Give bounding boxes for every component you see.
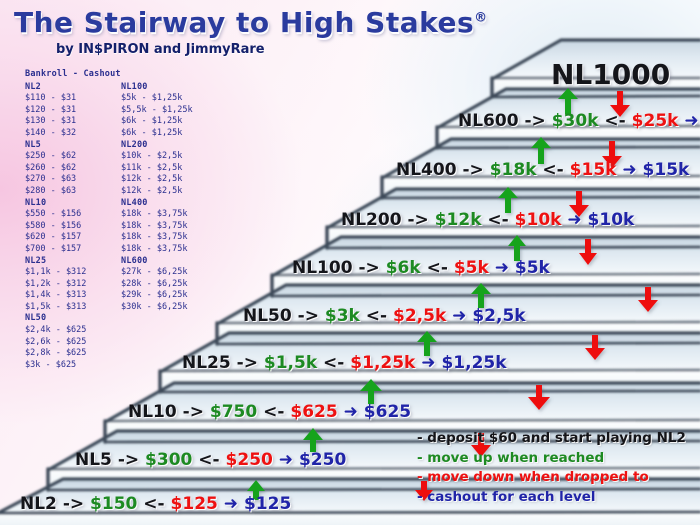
cashout-arrow-icon: ➜ [452, 306, 466, 326]
step-level: NL600 [458, 111, 519, 131]
step-level: NL25 [182, 353, 231, 373]
step-move-down: $5k [454, 258, 489, 278]
step-cashout: $10k [588, 210, 635, 230]
group-name: NL10 [25, 198, 121, 210]
step-level: NL50 [243, 306, 292, 326]
bankroll-row: $260 - $62 [25, 163, 121, 175]
step-row-nl100: NL100 -> $6k <- $5k ➜ $5k [292, 258, 550, 278]
bankroll-group: NL200 $10k - $2,5k $11k - $2,5k $12k - $… [121, 140, 217, 198]
step-row-nl2: NL2 -> $150 <- $125 ➜ $125 [20, 494, 291, 514]
step-row-nl50: NL50 -> $3k <- $2,5k ➜ $2,5k [243, 306, 526, 326]
cashout-arrow-icon: ➜ [567, 210, 581, 230]
step-level: NL200 [341, 210, 402, 230]
bankroll-row: $12k - $2,5k [121, 186, 217, 198]
bankroll-row: $12k - $2,5k [121, 174, 217, 186]
step-move-up: $30k [552, 111, 599, 131]
cashout-arrow-icon: ➜ [224, 494, 238, 514]
step-cashout: $5k [515, 258, 550, 278]
registered-mark: ® [474, 11, 488, 26]
bankroll-row: $1,5k - $313 [25, 302, 121, 314]
bankroll-cashout-table: Bankroll - Cashout NL2 $110 - $31 $120 -… [25, 69, 217, 371]
step-row-nl400: NL400 -> $18k <- $15k ➜ $15k [396, 160, 689, 180]
step-move-down: $25k [632, 111, 679, 131]
legend-item-move-up: - move up when reached [417, 449, 686, 469]
step-row-nl600: NL600 -> $30k <- $25k ➜ $25k [458, 111, 700, 131]
step-arrow-right: -> [298, 306, 319, 326]
bankroll-row: $18k - $3,75k [121, 232, 217, 244]
legend-item-move-down: - move down when dropped to [417, 468, 686, 488]
bankroll-row: $18k - $3,75k [121, 244, 217, 256]
step-arrow-right: -> [237, 353, 258, 373]
step-move-down: $15k [570, 160, 617, 180]
step-cashout: $125 [244, 494, 291, 514]
group-name: NL200 [121, 140, 217, 152]
bankroll-group: NL600 $27k - $6,25k $28k - $6,25k $29k -… [121, 256, 217, 314]
step-arrow-left: <- [143, 494, 164, 514]
bankroll-group: NL100 $5k - $1,25k $5,5k - $1,25k $6k - … [121, 82, 217, 140]
bankroll-row: $3k - $625 [25, 360, 121, 372]
step-level: NL10 [128, 402, 177, 422]
page-title-text: The Stairway to High Stakes [14, 6, 474, 39]
poster-root: The Stairway to High Stakes® by IN$PIRON… [0, 0, 700, 525]
bankroll-row: $29k - $6,25k [121, 290, 217, 302]
step-move-down: $125 [171, 494, 218, 514]
step-move-up: $750 [210, 402, 257, 422]
bankroll-row: $2,4k - $625 [25, 325, 121, 337]
legend-item-deposit: - deposit $60 and start playing NL2 [417, 429, 686, 449]
step-move-down: $1,25k [350, 353, 415, 373]
bankroll-row: $30k - $6,25k [121, 302, 217, 314]
step-row-nl200: NL200 -> $12k <- $10k ➜ $10k [341, 210, 634, 230]
step-arrow-left: <- [427, 258, 448, 278]
step-cashout: $2,5k [472, 306, 525, 326]
step-move-up: $300 [145, 450, 192, 470]
top-step-label: NL1000 [551, 58, 670, 91]
bankroll-group: NL10 $550 - $156 $580 - $156 $620 - $157… [25, 198, 121, 256]
bankroll-row: $2,6k - $625 [25, 337, 121, 349]
legend: - deposit $60 and start playing NL2 - mo… [417, 429, 686, 507]
step-move-up: $3k [325, 306, 360, 326]
step-move-up: $150 [90, 494, 137, 514]
step-arrow-left: <- [487, 210, 508, 230]
group-name: NL600 [121, 256, 217, 268]
title-block: The Stairway to High Stakes® by IN$PIRON… [14, 6, 488, 57]
bankroll-row: $5k - $1,25k [121, 93, 217, 105]
step-arrow-right: -> [118, 450, 139, 470]
step-level: NL2 [20, 494, 57, 514]
step-move-up: $1,5k [264, 353, 317, 373]
step-level: NL400 [396, 160, 457, 180]
bankroll-row: $550 - $156 [25, 209, 121, 221]
bankroll-row: $28k - $6,25k [121, 279, 217, 291]
step-arrow-right: -> [407, 210, 428, 230]
bankroll-row: $700 - $157 [25, 244, 121, 256]
step-arrow-right: -> [63, 494, 84, 514]
bankroll-row: $5,5k - $1,25k [121, 105, 217, 117]
bankroll-row: $270 - $63 [25, 174, 121, 186]
bankroll-group: NL400 $18k - $3,75k $18k - $3,75k $18k -… [121, 198, 217, 256]
table-header: Bankroll - Cashout [25, 69, 217, 81]
bankroll-row: $110 - $31 [25, 93, 121, 105]
step-arrow-right: -> [183, 402, 204, 422]
step-move-up: $18k [490, 160, 537, 180]
bankroll-row: $130 - $31 [25, 116, 121, 128]
cashout-arrow-icon: ➜ [279, 450, 293, 470]
group-name: NL25 [25, 256, 121, 268]
bankroll-group: NL5 $250 - $62 $260 - $62 $270 - $63 $28… [25, 140, 121, 198]
step-arrow-left: <- [323, 353, 344, 373]
bankroll-row: $250 - $62 [25, 151, 121, 163]
step-arrow-left: <- [198, 450, 219, 470]
cashout-arrow-icon: ➜ [495, 258, 509, 278]
bankroll-group: NL2 $110 - $31 $120 - $31 $130 - $31 $14… [25, 82, 121, 140]
bankroll-row: $2,8k - $625 [25, 348, 121, 360]
step-arrow-left: <- [604, 111, 625, 131]
bankroll-row: $18k - $3,75k [121, 221, 217, 233]
legend-item-cashout: - cashout for each level [417, 488, 686, 508]
step-cashout: $1,25k [441, 353, 506, 373]
cashout-arrow-icon: ➜ [622, 160, 636, 180]
bankroll-row: $6k - $1,25k [121, 116, 217, 128]
step-level: NL100 [292, 258, 353, 278]
bankroll-row: $6k - $1,25k [121, 128, 217, 140]
bankroll-row: $1,4k - $313 [25, 290, 121, 302]
bankroll-row: $18k - $3,75k [121, 209, 217, 221]
group-name: NL2 [25, 82, 121, 94]
bankroll-row: $280 - $63 [25, 186, 121, 198]
bankroll-row: $27k - $6,25k [121, 267, 217, 279]
step-move-up: $6k [386, 258, 421, 278]
step-level: NL1000 [551, 58, 670, 91]
step-arrow-left: <- [366, 306, 387, 326]
bankroll-row: $140 - $32 [25, 128, 121, 140]
cashout-arrow-icon: ➜ [684, 111, 698, 131]
step-arrow-right: -> [462, 160, 483, 180]
page-title: The Stairway to High Stakes® [14, 6, 488, 39]
bankroll-row: $620 - $157 [25, 232, 121, 244]
group-name: NL100 [121, 82, 217, 94]
step-move-down: $625 [290, 402, 337, 422]
bankroll-row: $580 - $156 [25, 221, 121, 233]
step-row-nl10: NL10 -> $750 <- $625 ➜ $625 [128, 402, 411, 422]
step-cashout: $250 [299, 450, 346, 470]
step-move-down: $2,5k [393, 306, 446, 326]
bankroll-row: $10k - $2,5k [121, 151, 217, 163]
step-row-nl25: NL25 -> $1,5k <- $1,25k ➜ $1,25k [182, 353, 507, 373]
page-subtitle: by IN$PIRON and JimmyRare [56, 42, 488, 57]
bankroll-column-1: NL2 $110 - $31 $120 - $31 $130 - $31 $14… [25, 82, 121, 372]
step-arrow-left: <- [263, 402, 284, 422]
group-name: NL5 [25, 140, 121, 152]
step-arrow-right: -> [358, 258, 379, 278]
step-row-nl5: NL5 -> $300 <- $250 ➜ $250 [75, 450, 346, 470]
step-move-up: $12k [435, 210, 482, 230]
bankroll-group: NL25 $1,1k - $312 $1,2k - $312 $1,4k - $… [25, 256, 121, 314]
bankroll-row: $1,1k - $312 [25, 267, 121, 279]
group-name: NL50 [25, 313, 121, 325]
bankroll-group: NL50 $2,4k - $625 $2,6k - $625 $2,8k - $… [25, 313, 121, 371]
step-cashout: $15k [643, 160, 690, 180]
bankroll-row: $1,2k - $312 [25, 279, 121, 291]
bankroll-row: $120 - $31 [25, 105, 121, 117]
step-level: NL5 [75, 450, 112, 470]
step-move-down: $250 [226, 450, 273, 470]
group-name: NL400 [121, 198, 217, 210]
cashout-arrow-icon: ➜ [421, 353, 435, 373]
bankroll-row: $11k - $2,5k [121, 163, 217, 175]
step-move-down: $10k [515, 210, 562, 230]
cashout-arrow-icon: ➜ [344, 402, 358, 422]
step-cashout: $625 [364, 402, 411, 422]
bankroll-column-2: NL100 $5k - $1,25k $5,5k - $1,25k $6k - … [121, 82, 217, 372]
step-arrow-right: -> [524, 111, 545, 131]
step-arrow-left: <- [542, 160, 563, 180]
